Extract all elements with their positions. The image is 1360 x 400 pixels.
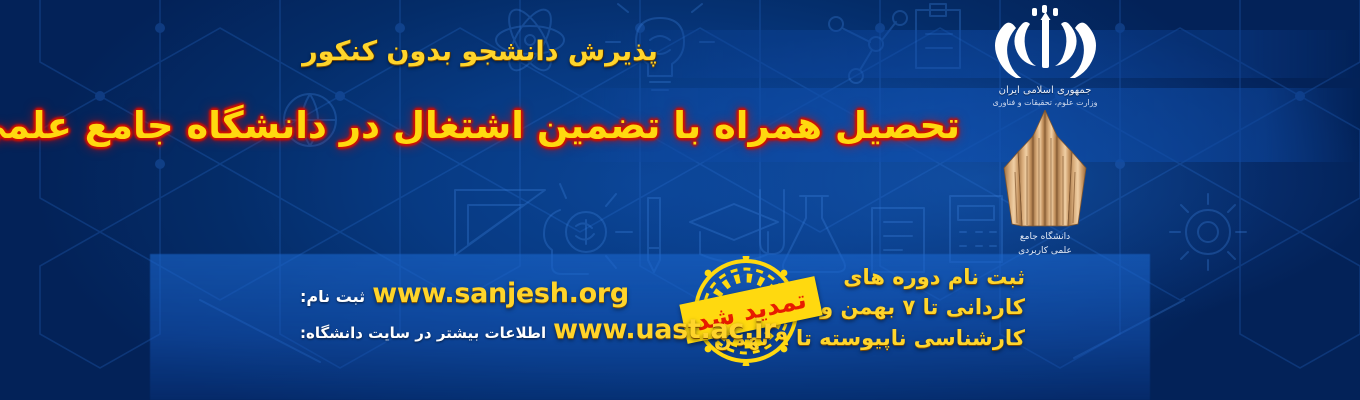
emblem-republic-label: جمهوری اسلامی ایران [960,85,1130,96]
deadline-line-1: ثبت نام دوره های [795,262,1025,292]
headline-main: تحصیل همراه با تضمین اشتغال در دانشگاه ج… [0,104,960,147]
uast-label: اطلاعات بیشتر در سایت دانشگاه: [300,324,546,342]
uast-link-row[interactable]: www.uast.ac.ir اطلاعات بیشتر در سایت دان… [300,314,670,345]
iran-national-emblem-icon [960,4,1130,78]
iran-state-emblem-block: جمهوری اسلامی ایران وزارت علوم، تحقیقات … [960,4,1130,107]
deadline-line-3: کارشناسی ناپیوسته تا ۹ بهمن [795,323,1025,353]
sanjesh-link-row[interactable]: www.sanjesh.org ثبت نام: [300,278,670,309]
registration-deadline-block: ثبت نام دوره های کاردانی تا ۷ بهمن و کار… [795,262,1025,353]
extended-stamp: تمدید شد [688,256,812,366]
sanjesh-url[interactable]: www.sanjesh.org [372,278,629,309]
university-name-label: دانشگاه جامع علمی کاربردی [960,231,1130,258]
university-name-line2: علمی کاربردی [960,245,1130,259]
deadline-line-2: کاردانی تا ۷ بهمن و [795,292,1025,322]
uast-url[interactable]: www.uast.ac.ir [553,314,776,345]
promo-banner: پذیرش دانشجو بدون کنکور تحصیل همراه با ت… [0,0,1360,400]
sanjesh-label: ثبت نام: [300,287,365,306]
headline-top: پذیرش دانشجو بدون کنکور [0,36,960,67]
registration-links-block: www.sanjesh.org ثبت نام: www.uast.ac.ir … [300,278,670,350]
university-name-line1: دانشگاه جامع [960,231,1130,245]
university-emblem-group: جمهوری اسلامی ایران وزارت علوم، تحقیقات … [960,4,1130,260]
emblem-ministry-label: وزارت علوم، تحقیقات و فناوری [960,98,1130,107]
